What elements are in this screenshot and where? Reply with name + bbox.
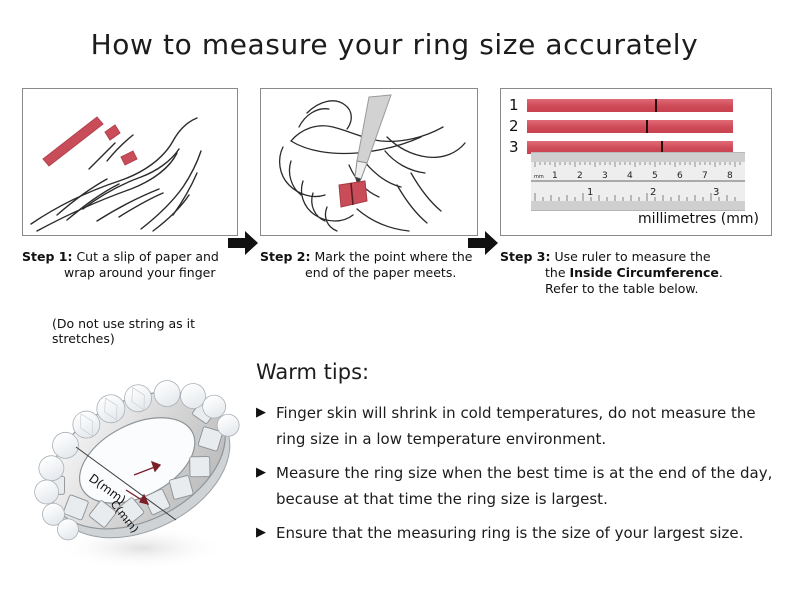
- paper-strips-group: 1 2 3: [509, 97, 733, 160]
- tip-text: Ensure that the measuring ring is the si…: [276, 520, 743, 546]
- svg-text:6: 6: [677, 171, 683, 181]
- svg-text:5: 5: [652, 171, 658, 181]
- strip-number: 3: [509, 139, 527, 155]
- strip-tick-mark: [655, 99, 657, 112]
- ring-diagram: D(mm) C(mm): [26, 352, 252, 584]
- hand-marking-paper-with-pen-illustration: [261, 89, 477, 235]
- strip-bar: [527, 120, 733, 133]
- svg-text:3: 3: [713, 187, 719, 198]
- step-1-line1: Cut a slip of paper and: [76, 249, 218, 264]
- right-arrow-icon: [228, 230, 258, 256]
- step-3-image-panel: 1 2 3: [500, 88, 772, 236]
- svg-text:7: 7: [702, 171, 708, 181]
- right-arrow-icon-2: [468, 230, 498, 256]
- svg-text:1: 1: [587, 187, 593, 198]
- hand-with-paper-strip-illustration: [23, 89, 237, 235]
- step-2-line2: end of the paper meets.: [260, 265, 478, 281]
- step-3-label: Step 3:: [500, 249, 550, 264]
- strip-row: 1: [509, 97, 733, 113]
- bullet-triangle-icon: ▶: [256, 520, 276, 546]
- svg-text:3: 3: [602, 171, 608, 181]
- step-1-column: Step 1: Cut a slip of paper and wrap aro…: [22, 88, 238, 281]
- step-2-label: Step 2:: [260, 249, 310, 264]
- warm-tips-section: Warm tips: ▶ Finger skin will shrink in …: [256, 360, 776, 554]
- step-3-line1: Use ruler to measure the: [554, 249, 710, 264]
- tip-text: Measure the ring size when the best time…: [276, 460, 776, 512]
- ruler-unit-label: millimetres (mm): [638, 211, 759, 227]
- step-3-caption: Step 3: Use ruler to measure the the Ins…: [500, 249, 772, 297]
- svg-text:mm: mm: [534, 174, 544, 180]
- step-1-line2: wrap around your finger: [22, 265, 238, 281]
- strip-row: 2: [509, 118, 733, 134]
- strip-number: 1: [509, 97, 527, 113]
- strip-number: 2: [509, 118, 527, 134]
- bullet-triangle-icon: ▶: [256, 400, 276, 426]
- svg-text:2: 2: [577, 171, 583, 181]
- ruler-graphic: 12 34 56 78 mm 123: [531, 152, 745, 211]
- step-1-image-panel: [22, 88, 238, 236]
- svg-text:4: 4: [627, 171, 633, 181]
- step-2-column: Step 2: Mark the point where the end of …: [260, 88, 478, 281]
- page-title: How to measure your ring size accurately: [0, 28, 789, 61]
- svg-text:1: 1: [552, 171, 558, 181]
- step-3-column: 1 2 3: [500, 88, 772, 297]
- step-3-line2: the Inside Circumference.: [500, 265, 772, 281]
- strip-bar: [527, 99, 733, 112]
- step-2-image-panel: [260, 88, 478, 236]
- svg-text:2: 2: [650, 187, 656, 198]
- bullet-triangle-icon: ▶: [256, 460, 276, 486]
- step-2-caption: Step 2: Mark the point where the end of …: [260, 249, 478, 281]
- svg-text:8: 8: [727, 171, 733, 181]
- steps-row: Step 1: Cut a slip of paper and wrap aro…: [0, 88, 789, 338]
- tip-text: Finger skin will shrink in cold temperat…: [276, 400, 776, 452]
- list-item: ▶ Ensure that the measuring ring is the …: [256, 520, 776, 546]
- step-3-line2-suffix: .: [719, 265, 723, 280]
- warm-tips-heading: Warm tips:: [256, 360, 776, 384]
- list-item: ▶ Finger skin will shrink in cold temper…: [256, 400, 776, 452]
- step-1-caption: Step 1: Cut a slip of paper and wrap aro…: [22, 249, 238, 281]
- step-1-label: Step 1:: [22, 249, 72, 264]
- strip-tick-mark: [646, 120, 648, 133]
- step-1-note: (Do not use string as it stretches): [52, 316, 238, 346]
- step-2-line1: Mark the point where the: [314, 249, 472, 264]
- step-3-line2-bold: Inside Circumference: [570, 265, 719, 280]
- step-3-line3: Refer to the table below.: [500, 281, 772, 297]
- list-item: ▶ Measure the ring size when the best ti…: [256, 460, 776, 512]
- step-3-line2-prefix: the: [545, 265, 570, 280]
- diamond-eternity-ring-photo: D(mm) C(mm): [26, 352, 252, 584]
